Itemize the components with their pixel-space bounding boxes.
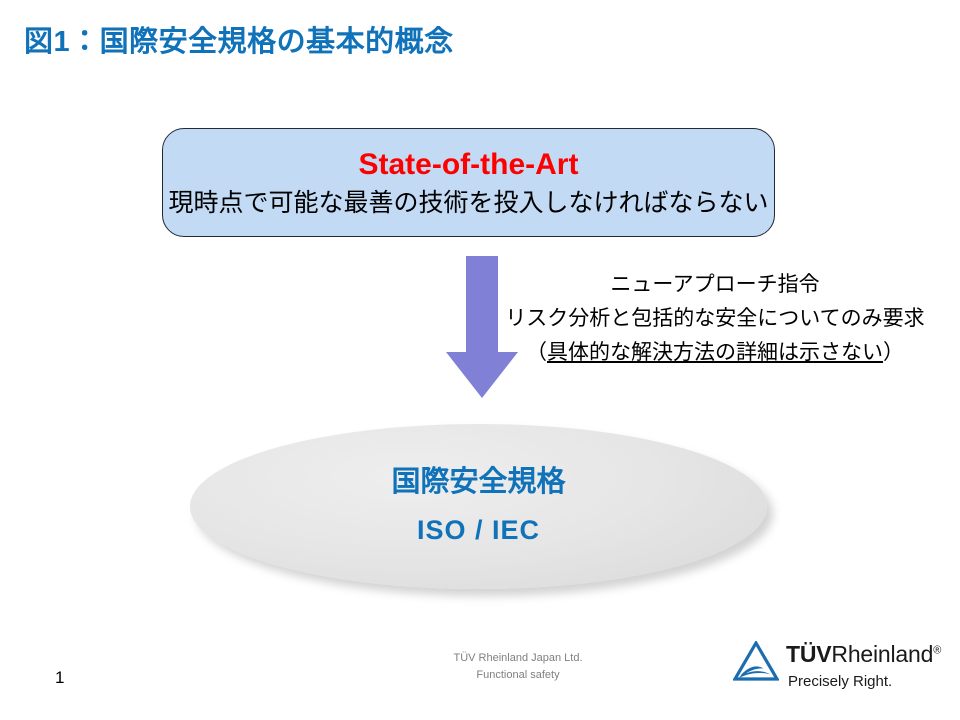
ellipse-label-iso-iec: ISO / IEC [417,516,540,546]
page-number: 1 [55,668,64,688]
international-standards-ellipse: 国際安全規格 ISO / IEC [190,424,767,589]
page-title: 図1：国際安全規格の基本的概念 [24,18,454,60]
slide-canvas: 図1：国際安全規格の基本的概念 State-of-the-Art 現時点で可能な… [0,0,960,720]
footer-line-2: Functional safety [388,667,648,684]
ellipse-label-japanese: 国際安全規格 [391,467,565,499]
logo-tagline: Precisely Right. [788,673,892,690]
note-line-3: （具体的な解決方法の詳細は示さない） [500,336,930,370]
footer-credit: TÜV Rheinland Japan Ltd. Functional safe… [388,650,648,684]
new-approach-note: ニューアプローチ指令 リスク分析と包括的な安全についてのみ要求 （具体的な解決方… [500,268,930,370]
logo-word-rheinland: Rheinland [831,641,933,667]
tuv-rheinland-logo: TÜVRheinland® Precisely Right. [733,641,933,697]
state-of-the-art-heading: State-of-the-Art [359,148,579,181]
note-line-1: ニューアプローチ指令 [500,268,930,302]
note-line-3-open-paren: （ [526,341,547,364]
footer-line-1: TÜV Rheinland Japan Ltd. [388,650,648,667]
note-line-2: リスク分析と包括的な安全についてのみ要求 [500,302,930,336]
logo-word-tuv: TÜV [786,641,831,667]
note-line-3-close-paren: ） [883,341,904,364]
state-of-the-art-subtext: 現時点で可能な最善の技術を投入しなければならない [168,190,768,218]
state-of-the-art-box: State-of-the-Art 現時点で可能な最善の技術を投入しなければならな… [162,128,775,237]
logo-wordmark: TÜVRheinland® [786,642,941,666]
tuv-rheinland-triangle-icon [733,641,779,681]
registered-trademark-icon: ® [933,644,941,656]
note-line-3-underlined: 具体的な解決方法の詳細は示さない [547,341,883,364]
